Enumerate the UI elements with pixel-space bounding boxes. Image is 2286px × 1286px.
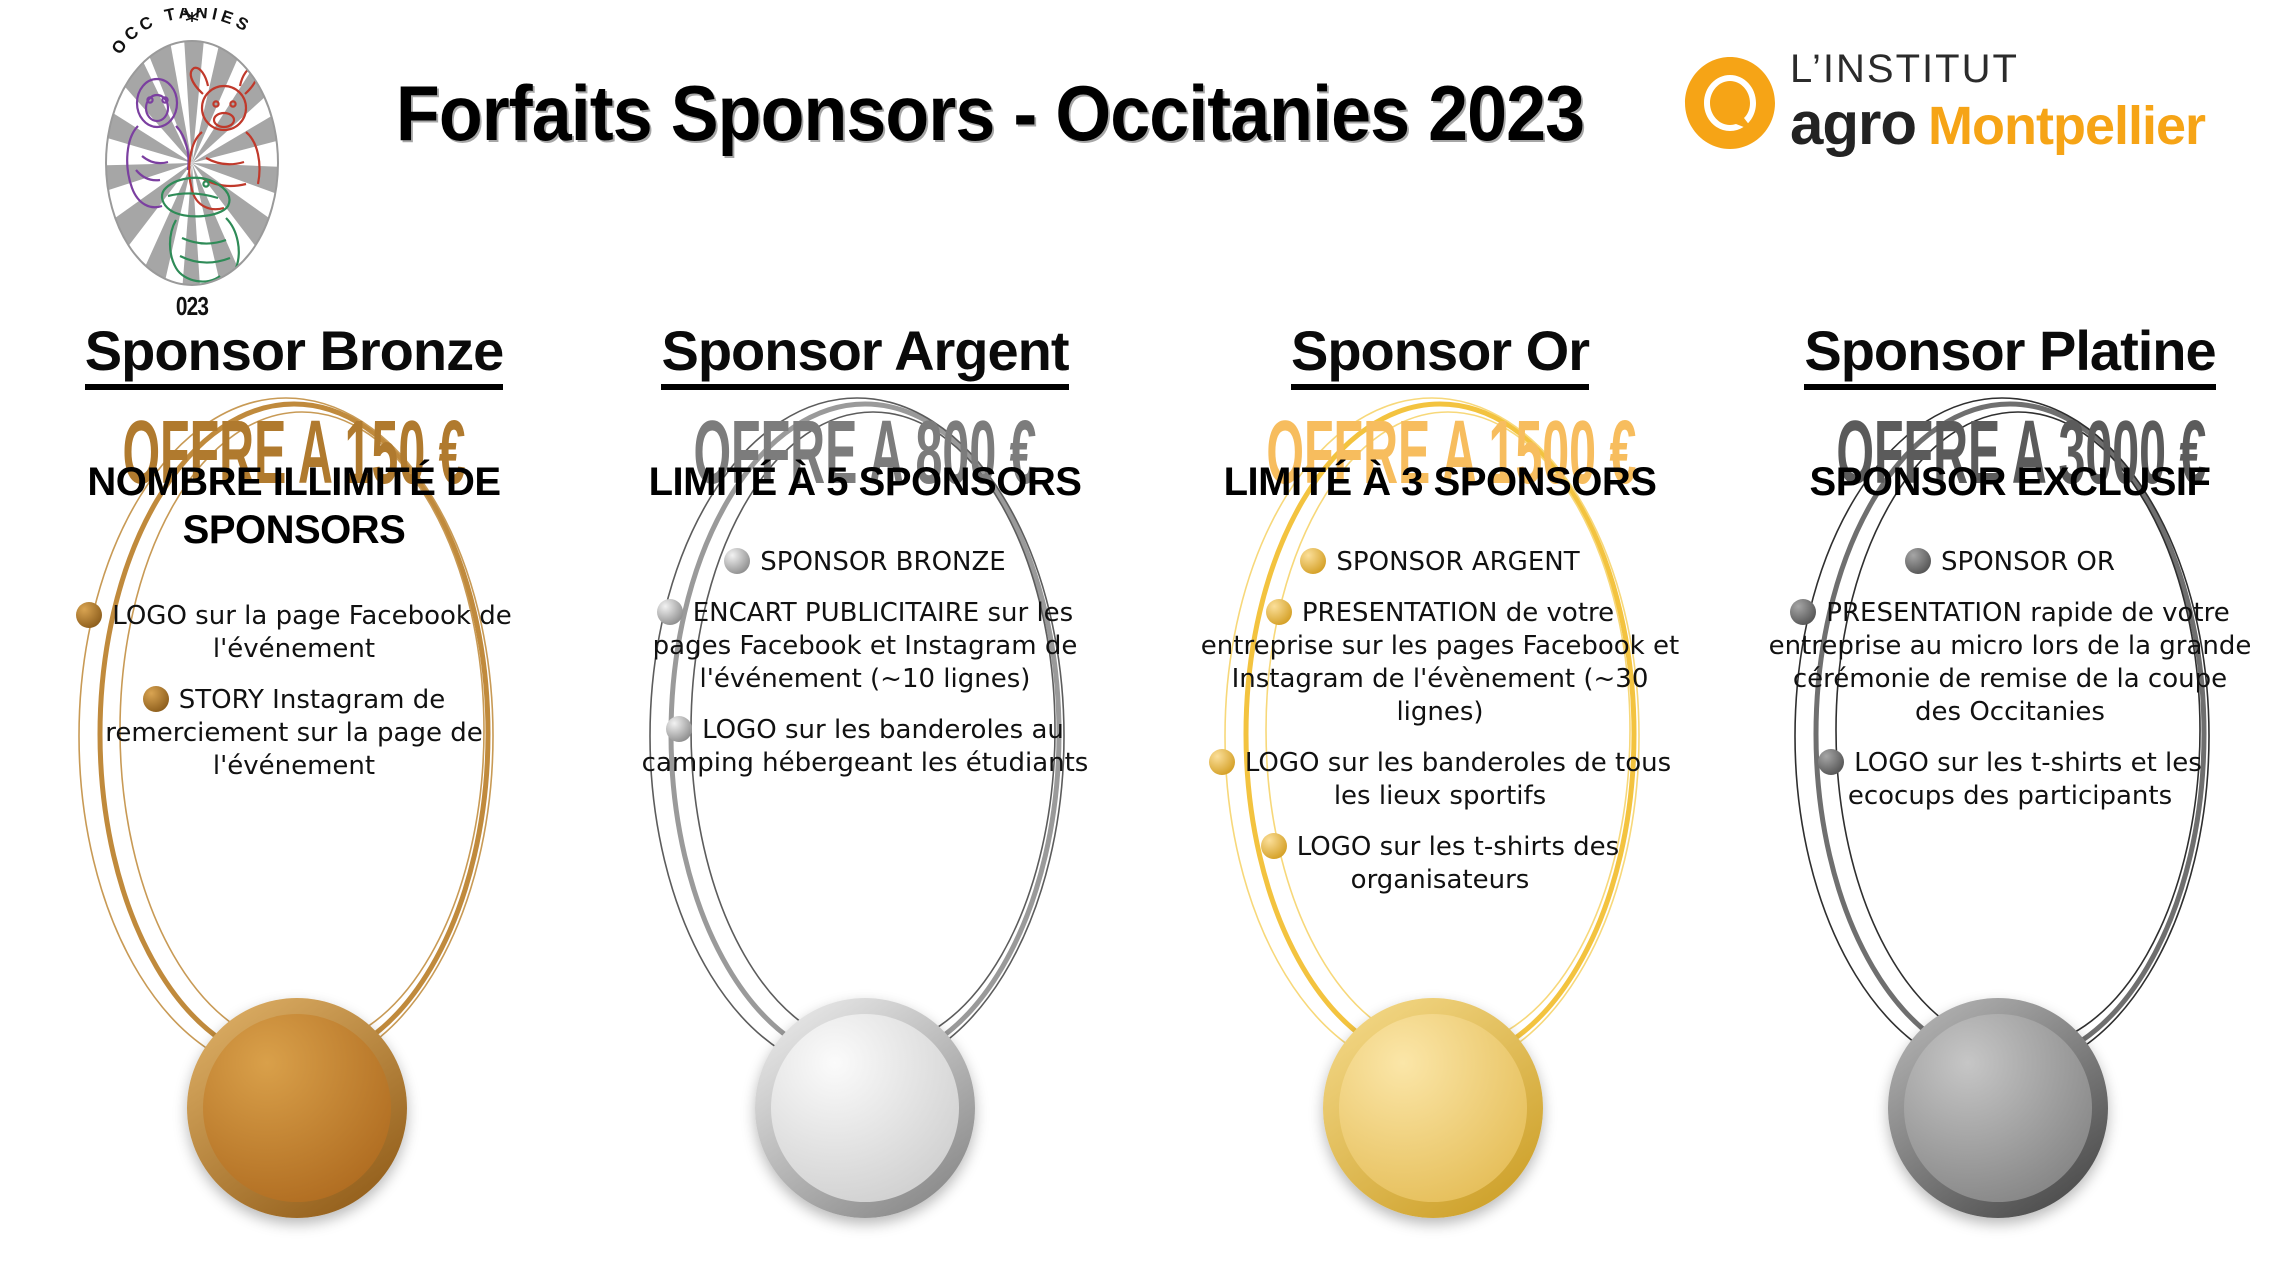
benefit-item: PRESENTATION de votre entreprise sur les… [1190,597,1690,729]
benefit-text: ENCART PUBLICITAIRE sur les pages Facebo… [653,598,1078,694]
bullet-dot-icon [1261,833,1287,859]
gold-medal-icon [1323,998,1543,1218]
benefit-item: SPONSOR ARGENT [1190,546,1690,579]
bullet-dot-icon [657,599,683,625]
tier-title-platine: Sponsor Platine [1730,318,2286,383]
benefit-text: SPONSOR BRONZE [760,547,1005,577]
tier-title-argent: Sponsor Argent [585,318,1145,383]
tier-title-text: Sponsor Or [1291,319,1589,390]
medal-face [1339,1014,1527,1202]
bullet-dot-icon [1300,548,1326,574]
bullet-dot-icon [1818,749,1844,775]
agro-q-mark-icon [1680,53,1780,153]
benefit-text: SPONSOR ARGENT [1336,547,1579,577]
medal-face [771,1014,959,1202]
institut-agro-logo: L’INSTITUT agro Montpellier [1680,45,2210,165]
sponsorship-tiers-poster: OCC TANIES 023 Forfaits Sponsors - Occit… [0,0,2286,1286]
benefit-item: LOGO sur les t-shirts et les ecocups des… [1760,747,2260,813]
bullet-dot-icon [1790,599,1816,625]
tier-limit-platine: SPONSOR EXCLUSIF [1722,458,2286,506]
benefit-text: LOGO sur les t-shirts et les ecocups des… [1848,748,2202,811]
benefit-item: LOGO sur les banderoles de tous les lieu… [1190,747,1690,813]
tier-column-platine: Sponsor PlatineOFFRE A 3000 €SPONSOR EXC… [1730,318,2286,1278]
occitanies-arc-label: OCC TANIES [108,8,256,58]
tier-title-text: Sponsor Argent [661,319,1068,390]
tier-benefits-bronze: LOGO sur la page Facebook de l'événement… [44,600,544,801]
poster-header: OCC TANIES 023 Forfaits Sponsors - Occit… [0,0,2286,300]
tier-column-bronze: Sponsor BronzeOFFRE A 150 €NOMBRE ILLIMI… [14,318,574,1278]
occitanies-logo: OCC TANIES 023 [92,8,292,308]
benefit-item: LOGO sur les t-shirts des organisateurs [1190,831,1690,897]
occitanies-mascots-oval-icon [102,38,282,288]
bullet-dot-icon [666,716,692,742]
bullet-dot-icon [1209,749,1235,775]
medal-face [1904,1014,2092,1202]
tier-title-text: Sponsor Platine [1804,319,2215,390]
benefit-text: SPONSOR OR [1941,547,2115,577]
montpellier-label: Montpellier [1928,95,2205,157]
occitanies-arc-text: OCC TANIES [92,8,292,68]
bullet-dot-icon [143,686,169,712]
benefit-text: LOGO sur les banderoles au camping héber… [642,715,1089,778]
bullet-dot-icon [76,602,102,628]
benefit-text: LOGO sur la page Facebook de l'événement [112,601,511,664]
institut-agro-wordmark: L’INSTITUT agro Montpellier [1790,45,2210,165]
svg-text:OCC TANIES: OCC TANIES [108,8,256,58]
bullet-dot-icon [1905,548,1931,574]
benefit-item: LOGO sur la page Facebook de l'événement [44,600,544,666]
benefit-item: STORY Instagram de remerciement sur la p… [44,684,544,783]
tier-title-text: Sponsor Bronze [85,319,503,390]
agro-label: agro [1790,93,1916,155]
silver-medal-icon [755,998,975,1218]
benefit-item: ENCART PUBLICITAIRE sur les pages Facebo… [615,597,1115,696]
tier-benefits-platine: SPONSOR ORPRESENTATION rapide de votre e… [1760,546,2260,831]
benefit-item: SPONSOR BRONZE [615,546,1115,579]
tier-limit-or: LIMITÉ À 3 SPONSORS [1152,458,1728,506]
tier-title-or: Sponsor Or [1160,318,1720,383]
benefit-item: SPONSOR OR [1760,546,2260,579]
tier-limit-argent: LIMITÉ À 5 SPONSORS [577,458,1153,506]
benefit-text: LOGO sur les banderoles de tous les lieu… [1245,748,1671,811]
tier-column-argent: Sponsor ArgentOFFRE A 800 €LIMITÉ À 5 SP… [585,318,1145,1278]
bronze-medal-icon [187,998,407,1218]
benefit-item: LOGO sur les banderoles au camping héber… [615,714,1115,780]
bullet-dot-icon [1266,599,1292,625]
medal-face [203,1014,391,1202]
page-title: Forfaits Sponsors - Occitanies 2023 [447,58,1533,168]
benefit-text: LOGO sur les t-shirts des organisateurs [1297,832,1619,895]
tier-column-or: Sponsor OrOFFRE A 1500 €LIMITÉ À 3 SPONS… [1160,318,1720,1278]
bullet-dot-icon [724,548,750,574]
tier-title-bronze: Sponsor Bronze [14,318,574,383]
tier-benefits-argent: SPONSOR BRONZEENCART PUBLICITAIRE sur le… [615,546,1115,798]
tier-benefits-or: SPONSOR ARGENTPRESENTATION de votre entr… [1190,546,1690,915]
institut-label: L’INSTITUT [1790,45,2210,93]
benefit-item: PRESENTATION rapide de votre entreprise … [1760,597,2260,729]
platinum-medal-icon [1888,998,2108,1218]
benefit-text: PRESENTATION rapide de votre entreprise … [1769,598,2252,727]
tier-limit-bronze: NOMBRE ILLIMITÉ DE SPONSORS [6,458,582,554]
